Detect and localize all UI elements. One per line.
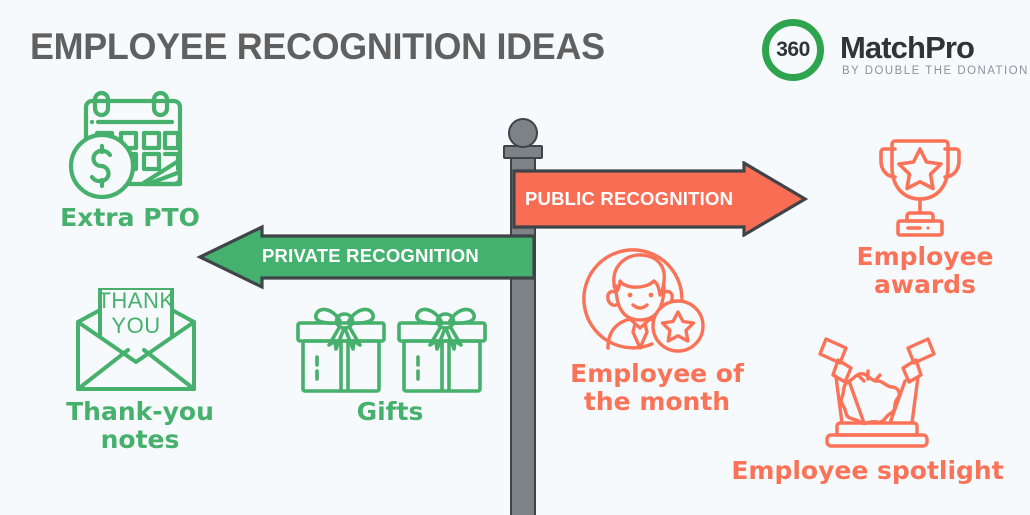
thank-you-line1: THANK	[97, 288, 174, 313]
signpost-finial-icon	[508, 118, 538, 148]
envelope-thank-you-icon: THANK YOU	[72, 288, 200, 392]
spotlight-star-icon	[818, 333, 936, 448]
logo-tagline: BY DOUBLE THE DONATION	[842, 65, 1029, 77]
label-employee-spotlight: Employee spotlight	[710, 457, 1025, 485]
logo-product-name: MatchPro	[840, 30, 974, 66]
calendar-dollar-icon	[68, 88, 190, 200]
person-star-badge-icon	[578, 240, 708, 355]
logo-360-text: 360	[762, 19, 824, 81]
thank-you-line2: YOU	[111, 313, 160, 338]
label-gifts: Gifts	[285, 398, 495, 426]
private-recognition-label: PRIVATE RECOGNITION	[262, 245, 479, 267]
page-title: EMPLOYEE RECOGNITION IDEAS	[30, 26, 605, 68]
label-thank-you-notes: Thank-you notes	[20, 398, 260, 454]
trophy-star-icon	[872, 135, 968, 240]
label-employee-awards: Employee awards	[825, 243, 1025, 299]
label-employee-of-the-month: Employee of the month	[547, 360, 767, 416]
infographic-canvas: EMPLOYEE RECOGNITION IDEAS 360 MatchPro …	[0, 0, 1030, 515]
gift-boxes-icon	[293, 305, 491, 395]
brand-logo: 360 MatchPro BY DOUBLE THE DONATION	[762, 16, 1022, 86]
label-extra-pto: Extra PTO	[20, 204, 240, 232]
public-recognition-label: PUBLIC RECOGNITION	[525, 188, 733, 210]
